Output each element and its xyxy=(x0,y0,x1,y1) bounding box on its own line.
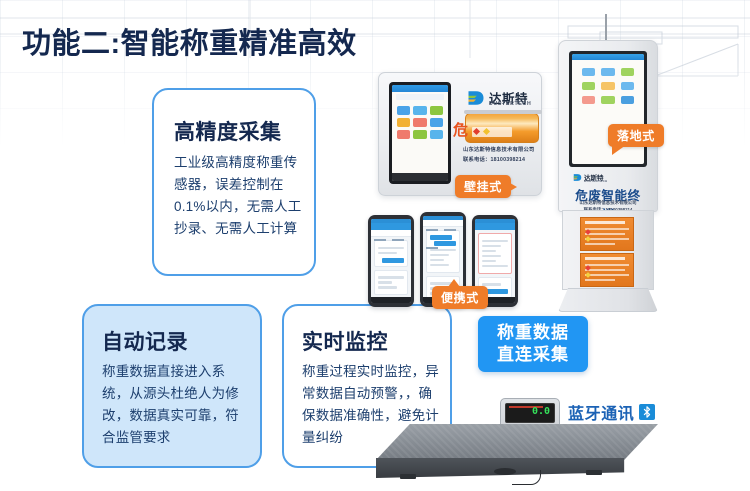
kiosk-screen-display xyxy=(572,54,644,164)
brand-name-en: DUSTERTECH xyxy=(489,101,531,107)
card-body: 称重数据直接进入系统，从源头杜绝人为修改，数据真实可靠，符合监管要求 xyxy=(102,361,250,448)
app-icon xyxy=(601,68,614,76)
bluetooth-label-group: 蓝牙通讯 xyxy=(568,400,655,424)
label-line xyxy=(585,264,629,266)
app-icon xyxy=(430,130,443,139)
phone-app-bar xyxy=(475,223,515,230)
wall-tablet-device xyxy=(389,82,451,184)
phone-row xyxy=(378,281,392,284)
phone-app-bar xyxy=(371,223,411,230)
label-line xyxy=(585,243,615,245)
app-icon xyxy=(582,96,595,104)
app-icon xyxy=(413,130,426,139)
app-icon xyxy=(413,118,426,127)
phone-highlight-box xyxy=(478,233,512,274)
dustertech-logo-icon xyxy=(573,173,582,182)
app-icon xyxy=(430,118,443,127)
phone-row xyxy=(482,250,496,253)
app-icon xyxy=(582,68,595,76)
scale-deck-plate xyxy=(376,424,658,460)
hazard-label-print xyxy=(580,253,634,287)
wall-tablet-screen xyxy=(392,85,448,181)
scale-foot xyxy=(586,470,602,475)
app-icon xyxy=(601,82,614,90)
app-icon xyxy=(413,106,426,115)
phone-screen xyxy=(371,219,411,303)
bluetooth-icon xyxy=(639,404,655,420)
phone-row xyxy=(482,283,501,286)
brand-logo-kiosk: 达斯特 DUSTERTECH xyxy=(573,172,621,183)
phone-row xyxy=(430,254,449,257)
kiosk-screen-device xyxy=(569,51,647,167)
app-icon xyxy=(621,96,634,104)
feature-card-high-precision: 高精度采集 工业级高精度称重传感器，误差控制在0.1%以内，无需人工抄录、无需人… xyxy=(152,88,316,276)
brand-name-en: DUSTERTECH xyxy=(584,179,608,183)
phone-row xyxy=(378,252,397,255)
dustertech-logo-icon xyxy=(467,89,485,107)
scale-cable-wire xyxy=(512,470,541,485)
bluetooth-label: 蓝牙通讯 xyxy=(568,400,634,424)
antenna-icon xyxy=(605,14,607,40)
phone-row xyxy=(378,276,404,279)
label-title-line xyxy=(585,221,625,224)
phone-row xyxy=(482,255,501,258)
kiosk-body-panel xyxy=(562,210,654,290)
indicator-display: 0.0 xyxy=(505,403,555,423)
phone-list-card xyxy=(374,270,408,296)
wall-contact-phone: 联系电话：18100398214 xyxy=(463,155,525,163)
kiosk-app-grid xyxy=(572,60,644,112)
card-heading: 实时监控 xyxy=(302,326,388,356)
app-subbar xyxy=(396,94,444,100)
phone-tab-row xyxy=(423,220,463,227)
callout-line-2: 直连采集 xyxy=(497,344,569,366)
platform-scale xyxy=(376,424,658,484)
card-body: 工业级高精度称重传感器，误差控制在0.1%以内，无需人工抄录、无需人工计算 xyxy=(174,152,306,239)
app-icon xyxy=(397,106,410,115)
label-line xyxy=(585,274,629,276)
mobile-phone-device xyxy=(368,215,414,307)
badge-floor-standing: 落地式 xyxy=(608,124,664,147)
app-icon xyxy=(397,130,410,139)
phone-row xyxy=(378,286,397,289)
phone-row xyxy=(378,247,404,250)
phone-row xyxy=(430,264,449,267)
hazard-tank-graphic xyxy=(465,113,539,143)
tablet-dock xyxy=(392,173,448,181)
app-icon xyxy=(621,82,634,90)
app-icon xyxy=(397,118,410,127)
label-line xyxy=(585,233,625,235)
app-icon xyxy=(601,96,614,104)
indicator-weight-reading: 0.0 xyxy=(532,407,550,417)
app-icon xyxy=(582,82,595,90)
kiosk-company-name: 山东达斯特信息技术有限公司 xyxy=(569,200,647,206)
phone-row xyxy=(482,265,508,268)
phone-row xyxy=(482,245,501,248)
slide-canvas: 功能二:智能称重精准高效 高精度采集 工业级高精度称重传感器，误差控制在0.1%… xyxy=(0,0,750,491)
label-line xyxy=(585,279,615,281)
phone-action-button xyxy=(486,289,508,294)
kiosk-base-stand xyxy=(558,288,658,312)
label-line xyxy=(585,228,629,230)
card-heading: 自动记录 xyxy=(102,326,188,356)
callout-weighing-data: 称重数据 直连采集 xyxy=(478,316,588,372)
label-line xyxy=(585,269,625,271)
app-icon xyxy=(430,106,443,115)
phone-list-card xyxy=(374,240,408,267)
danger-character: 危 xyxy=(453,119,468,140)
card-heading: 高精度采集 xyxy=(174,116,282,146)
label-title-line xyxy=(585,257,625,260)
phone-form-card xyxy=(426,230,460,273)
app-icon-grid xyxy=(392,102,448,143)
phone-nav-bar xyxy=(371,297,411,303)
phone-row xyxy=(430,259,444,262)
badge-portable: 便携式 xyxy=(432,286,488,309)
label-line xyxy=(585,238,629,240)
phone-row xyxy=(482,240,508,243)
badge-wall-mounted: 壁挂式 xyxy=(455,175,511,198)
phone-tab-row xyxy=(371,230,411,237)
wall-company-name: 山东达斯特信息技术有限公司 xyxy=(463,145,534,153)
page-title: 功能二:智能称重精准高效 xyxy=(22,20,357,62)
floor-standing-kiosk: 达斯特 DUSTERTECH 危废智能终端 山东达斯特信息技术有限公司 联系电话… xyxy=(558,32,656,310)
feature-card-auto-record: 自动记录 称重数据直接进入系统，从源头杜绝人为修改，数据真实可靠，符合监管要求 xyxy=(82,304,262,468)
app-header-bar xyxy=(392,85,448,92)
phone-action-button xyxy=(382,258,404,263)
phone-row xyxy=(482,260,496,263)
callout-line-1: 称重数据 xyxy=(497,322,569,344)
bluetooth-glyph xyxy=(642,406,652,418)
brand-logo-wall: 达斯特 DUSTERTECH xyxy=(467,89,533,109)
scale-foot xyxy=(400,474,416,479)
app-icon xyxy=(621,68,634,76)
hazard-label-print xyxy=(580,217,634,251)
